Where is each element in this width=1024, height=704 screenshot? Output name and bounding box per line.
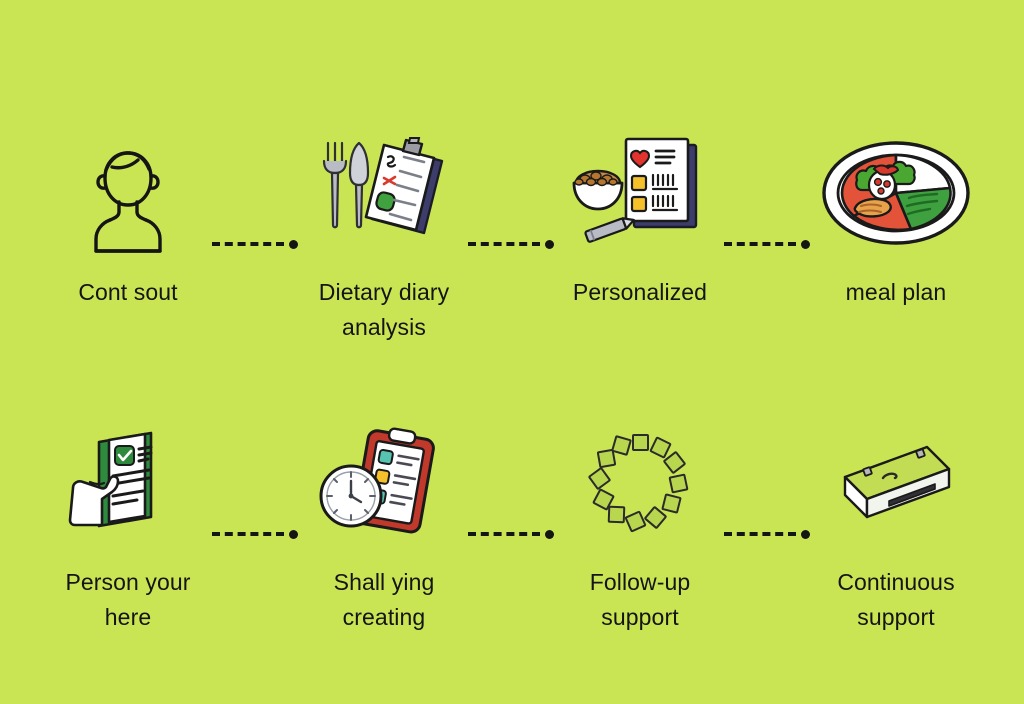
flow-step-2[interactable]: Dietary diary analysis xyxy=(256,120,512,400)
hand-holding-document-icon xyxy=(43,416,213,551)
fork-knife-clipboard-icon xyxy=(299,126,469,261)
flow-row-bottom: Person your here xyxy=(0,410,1024,690)
flow-step-4[interactable]: meal plan xyxy=(768,120,1024,400)
infographic-canvas: Cont sout xyxy=(0,0,1024,704)
flow-step-8[interactable]: Continuous support xyxy=(768,410,1024,690)
flow-step-5[interactable]: Person your here xyxy=(0,410,256,690)
closed-box-icon xyxy=(811,416,981,551)
flow-step-6-label: Shall ying creating xyxy=(284,565,484,635)
flow-step-2-label: Dietary diary analysis xyxy=(284,275,484,345)
flow-step-4-label: meal plan xyxy=(796,275,996,310)
flow-step-7[interactable]: Follow-up support xyxy=(512,410,768,690)
divided-meal-plate-icon xyxy=(811,126,981,261)
flow-row-top: Cont sout xyxy=(0,120,1024,400)
flow-step-3-label: Personalized xyxy=(540,275,740,310)
flow-step-5-label: Person your here xyxy=(28,565,228,635)
flow-step-3[interactable]: Personalized xyxy=(512,120,768,400)
flow-step-6[interactable]: Shall ying creating xyxy=(256,410,512,690)
circle-of-squares-icon xyxy=(555,416,725,551)
flow-step-1-label: Cont sout xyxy=(28,275,228,310)
clock-checklist-clipboard-icon xyxy=(299,416,469,551)
cereal-bowl-report-pencil-icon xyxy=(555,126,725,261)
flow-step-8-label: Continuous support xyxy=(796,565,996,635)
flow-step-1[interactable]: Cont sout xyxy=(0,120,256,400)
flow-step-7-label: Follow-up support xyxy=(540,565,740,635)
person-avatar-icon xyxy=(43,126,213,261)
